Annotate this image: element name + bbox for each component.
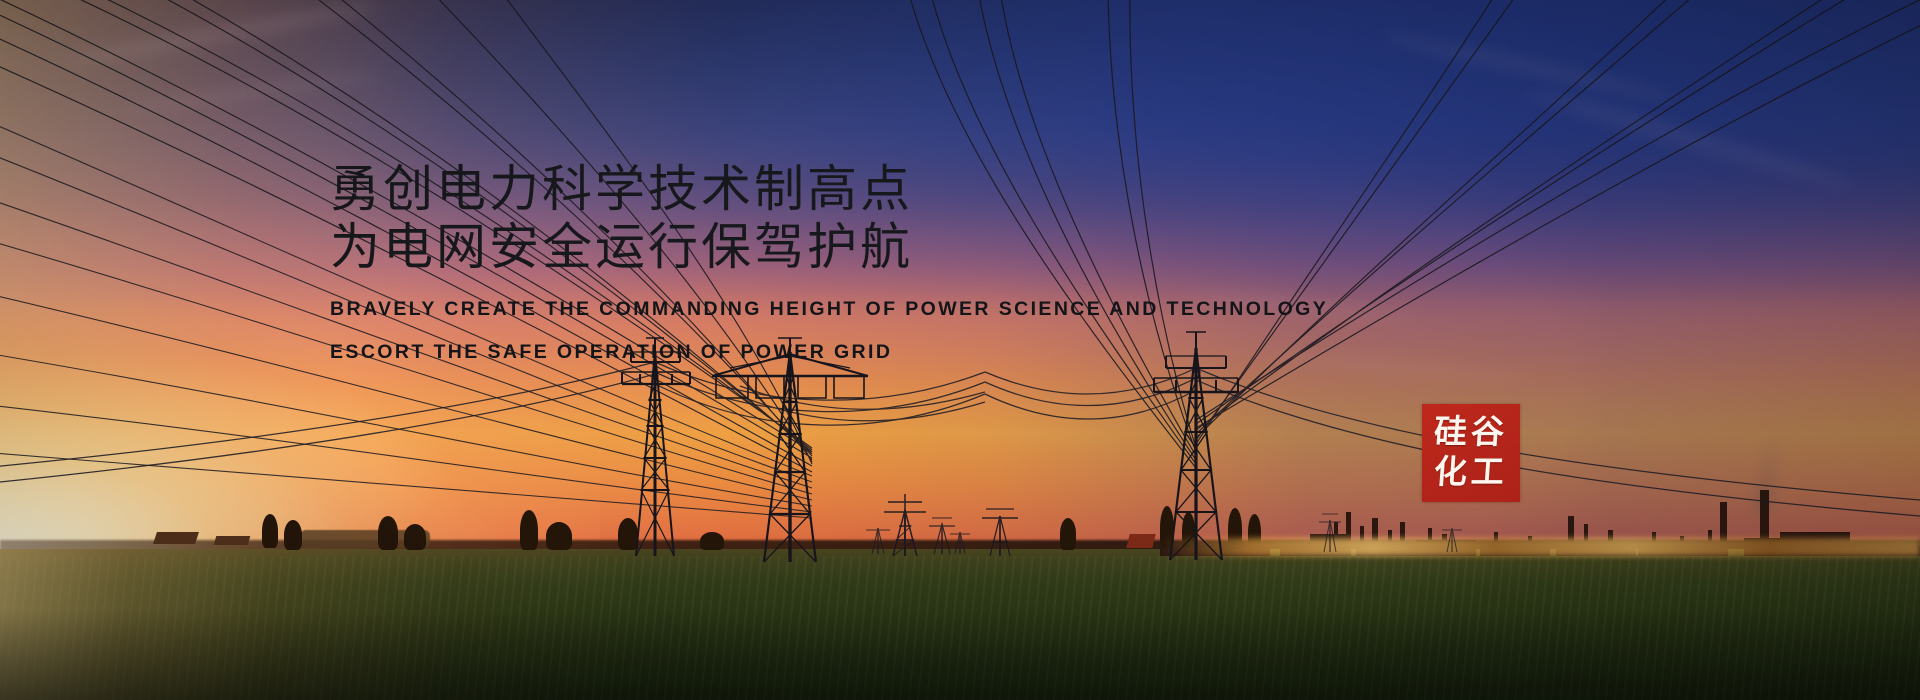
tree-silhouette	[520, 510, 538, 550]
village-rooftop	[1126, 534, 1155, 548]
tree-silhouette	[284, 520, 302, 550]
refinery-lights-glow	[1160, 538, 1920, 556]
tree-silhouette	[378, 516, 398, 550]
village-rooftop	[153, 532, 199, 544]
headline-line-2: 为电网安全运行保驾护航	[330, 218, 1390, 276]
tree-silhouette	[262, 514, 278, 548]
refinery-silhouette	[1160, 486, 1920, 556]
village-rooftop	[214, 536, 251, 545]
tree-silhouette	[404, 524, 426, 550]
headline-line-1: 勇创电力科学技术制高点	[330, 160, 1390, 218]
brand-seal-line-1: 硅谷	[1433, 413, 1510, 453]
brand-seal-line-2: 化工	[1433, 453, 1510, 493]
banner-copy: 勇创电力科学技术制高点 为电网安全运行保驾护航 BRAVELY CREATE T…	[330, 160, 1390, 364]
tree-silhouette	[546, 522, 572, 550]
brand-seal-logo[interactable]: 硅谷 化工	[1422, 404, 1520, 502]
tree-silhouette	[700, 532, 724, 550]
subtitle-line-1: BRAVELY CREATE THE COMMANDING HEIGHT OF …	[330, 298, 1390, 321]
tree-silhouette	[618, 518, 638, 550]
hero-banner: 勇创电力科学技术制高点 为电网安全运行保驾护航 BRAVELY CREATE T…	[0, 0, 1920, 700]
tree-silhouette	[1060, 518, 1076, 550]
field-shadow-bottom	[0, 610, 1920, 700]
subtitle-line-2: ESCORT THE SAFE OPERATION OF POWER GRID	[330, 341, 1390, 364]
